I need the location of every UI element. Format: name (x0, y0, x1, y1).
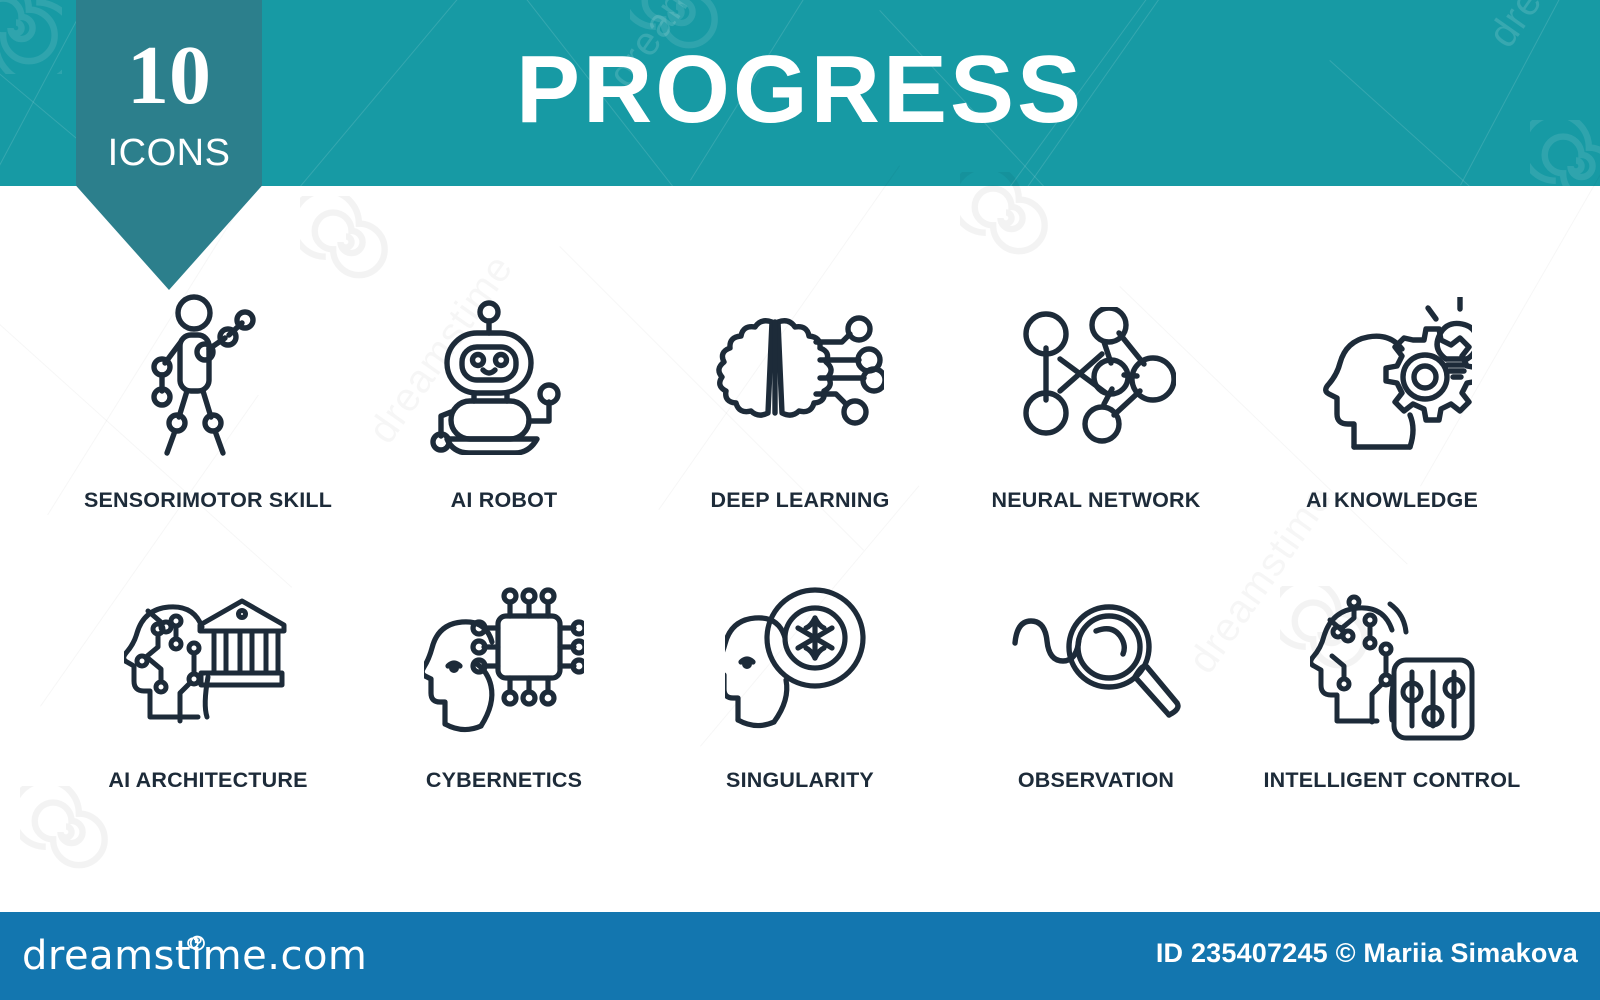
icon-label: CYBERNETICS (426, 768, 582, 793)
cybernetics-icon (414, 576, 594, 746)
icon-label: NEURAL NETWORK (991, 488, 1200, 513)
intelligent-control-icon (1302, 576, 1482, 746)
footer-band: dreamstime.com ID 235407245 © Mariia Sim… (0, 912, 1600, 1000)
icon-cell-observation[interactable]: OBSERVATION (948, 576, 1244, 866)
icon-row-2: AI ARCHITECTURE (60, 576, 1540, 866)
icon-cell-intelligent-control[interactable]: INTELLIGENT CONTROL (1244, 576, 1540, 866)
icon-label: SINGULARITY (726, 768, 874, 793)
observation-icon (1006, 576, 1186, 746)
icon-label: INTELLIGENT CONTROL (1263, 768, 1520, 793)
ai-knowledge-icon (1302, 292, 1482, 462)
poster-canvas: dreamstime dreamstime PROGRESS 10 ICONS (0, 0, 1600, 1000)
ai-architecture-icon (118, 576, 298, 746)
icon-label: SENSORIMOTOR SKILL (84, 488, 332, 513)
icon-label: AI ARCHITECTURE (108, 768, 307, 793)
ai-robot-icon (414, 292, 594, 462)
neural-network-icon (1006, 292, 1186, 462)
icon-cell-deep-learning[interactable]: DEEP LEARNING (652, 292, 948, 582)
dreamstime-spiral-icon (185, 929, 207, 951)
icon-cell-ai-knowledge[interactable]: AI KNOWLEDGE (1244, 292, 1540, 582)
icon-count-ribbon: 10 ICONS (76, 0, 262, 290)
icon-label: AI KNOWLEDGE (1306, 488, 1478, 513)
icon-label: DEEP LEARNING (710, 488, 889, 513)
dreamstime-logo[interactable]: dreamstime.com (22, 932, 367, 980)
icon-cell-ai-robot[interactable]: AI ROBOT (356, 292, 652, 582)
icon-cell-cybernetics[interactable]: CYBERNETICS (356, 576, 652, 866)
icon-row-1: SENSORIMOTOR SKILL (60, 292, 1540, 582)
sensorimotor-skill-icon (118, 292, 298, 462)
icon-label: OBSERVATION (1018, 768, 1174, 793)
icon-cell-neural-network[interactable]: NEURAL NETWORK (948, 292, 1244, 582)
icon-cell-singularity[interactable]: SINGULARITY (652, 576, 948, 866)
icon-grid: SENSORIMOTOR SKILL (0, 196, 1600, 876)
ribbon-label: ICONS (76, 134, 262, 172)
deep-learning-icon (710, 292, 890, 462)
singularity-icon (710, 576, 890, 746)
ribbon-count: 10 (76, 34, 262, 118)
image-credit: ID 235407245 © Mariia Simakova (1156, 938, 1578, 969)
icon-cell-sensorimotor-skill[interactable]: SENSORIMOTOR SKILL (60, 292, 356, 582)
icon-label: AI ROBOT (451, 488, 558, 513)
icon-cell-ai-architecture[interactable]: AI ARCHITECTURE (60, 576, 356, 866)
